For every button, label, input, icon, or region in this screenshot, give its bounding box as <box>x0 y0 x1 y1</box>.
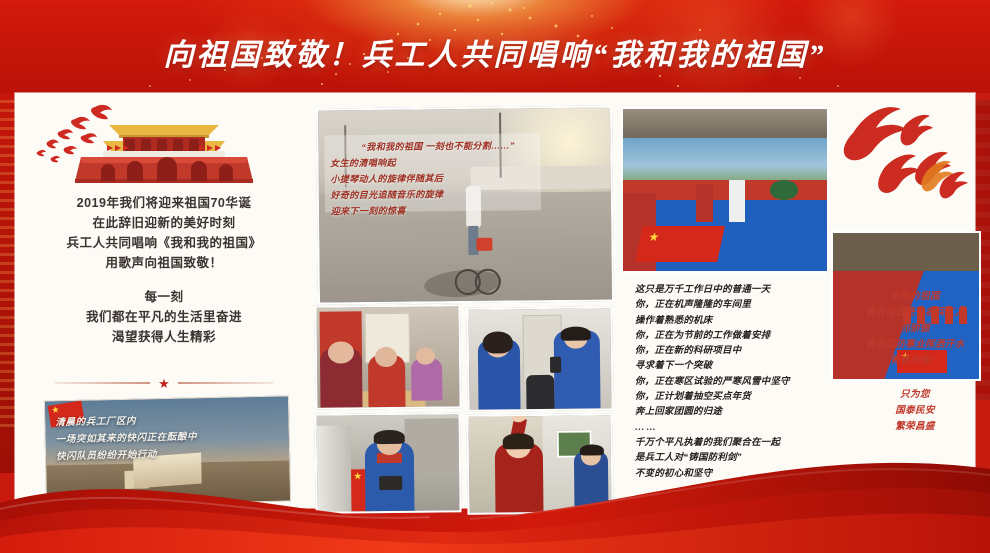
photo-two-workers-blue-uniform <box>466 306 613 412</box>
red-star-icon: ★ <box>158 377 170 390</box>
body-line: 你，正在机声隆隆的车间里 <box>635 298 853 313</box>
intro-line: 每一刻 <box>15 287 313 307</box>
text-gap <box>855 369 975 387</box>
flying-doves-icon <box>835 99 975 219</box>
body-line: 千万个平凡执着的我们聚合在一起 <box>635 436 853 451</box>
intro-line: 2019年我们将迎来祖国70华诞 <box>15 193 313 213</box>
tiananmen-gate-icon <box>23 101 305 187</box>
right-body-text: 这只是万千工作日中的普通一天 你，正在机声隆隆的车间里 操作着熟悉的机床 你，正… <box>635 283 853 482</box>
left-intro-text: 2019年我们将迎来祖国70华诞 在此辞旧迎新的美好时刻 兵工人共同唱响《我和我… <box>15 193 313 347</box>
photo-woman-cycling: “我和我的祖国 一刻也不能分割……” 女生的清唱响起 小提琴动人的旋律伴随其后 … <box>316 105 614 304</box>
person-hair <box>503 433 534 449</box>
divider-line-right <box>178 382 273 384</box>
intro-line: 用歌声向祖国致敬！ <box>15 253 313 273</box>
caption-line: 迎来下一刻的惊喜 <box>331 201 547 219</box>
red-line: 繁荣昌盛 <box>855 419 975 435</box>
photo-girl-waving <box>466 413 613 515</box>
person-hand <box>511 413 525 422</box>
photo-background-top <box>833 233 979 271</box>
person-figure <box>696 184 712 223</box>
intro-line: 我们都在平凡的生活里奋进 <box>15 307 313 327</box>
hero-photo-caption: “我和我的祖国 一刻也不能分割……” 女生的清唱响起 小提琴动人的旋律伴随其后 … <box>330 137 547 219</box>
person-hair <box>373 430 404 444</box>
photo-caption: 清晨的兵工厂区内 一场突如其来的快闪正在酝酿中 快闪队员纷纷开始行动 <box>55 411 276 467</box>
right-column: 这只是万千工作日中的普通一天 你，正在机声隆隆的车间里 操作着熟悉的机床 你，正… <box>619 93 975 508</box>
photo-factory-dawn: 清晨的兵工厂区内 一场突如其来的快闪正在酝酿中 快闪队员纷纷开始行动 <box>44 395 291 506</box>
red-line: 我为国防事业挥洒汗水 <box>855 337 975 353</box>
left-column: 2019年我们将迎来祖国70华诞 在此辞旧迎新的美好时刻 兵工人共同唱响《我和我… <box>15 93 313 508</box>
bike-basket <box>477 238 493 252</box>
body-line: 这只是万千工作日中的普通一天 <box>635 283 853 298</box>
notebook-icon <box>380 476 403 490</box>
poster-title: 向祖国致敬！兵工人共同唱响“我和我的祖国” <box>0 0 990 93</box>
body-line: 你，正在为节前的工作做着安排 <box>635 329 853 344</box>
photo-chair <box>526 375 555 409</box>
middle-photo-column: “我和我的祖国 一刻也不能分割……” 女生的清唱响起 小提琴动人的旋律伴随其后 … <box>315 93 617 508</box>
caption-line: “我和我的祖国 一刻也不能分割……” <box>330 137 546 155</box>
body-line: 寻求着下一个突破 <box>635 359 853 374</box>
person-head <box>416 348 435 365</box>
body-line: 你，正在新的科研项目中 <box>635 344 853 359</box>
red-line: 国泰民安 <box>855 403 975 419</box>
photo-roof <box>623 109 827 141</box>
red-line: 我为自己是一名兵工人 <box>855 305 975 321</box>
right-red-text: 亲爱的祖国 我为自己是一名兵工人 而骄傲 我为国防事业挥洒汗水 青春无悔！ 只为… <box>855 289 975 435</box>
red-line: 亲爱的祖国 <box>855 289 975 305</box>
red-line: 青春无悔！ <box>855 353 975 369</box>
red-line: 而骄傲 <box>855 321 975 337</box>
person-hair <box>561 326 591 340</box>
person-head <box>375 347 397 367</box>
person-figure <box>729 180 745 222</box>
body-line: 你，正计划着抽空买点年货 <box>635 390 853 405</box>
person-hair <box>580 444 604 456</box>
text-gap <box>15 273 313 287</box>
intro-line: 兵工人共同唱响《我和我的祖国》 <box>15 233 313 253</box>
divider-line-left <box>55 382 150 384</box>
red-line: 只为您 <box>855 387 975 403</box>
body-line: 操作着熟悉的机床 <box>635 314 853 329</box>
photo-elderly-singers <box>314 304 461 410</box>
flying-doves-icon <box>37 105 112 162</box>
body-line: 奔上回家团圆的归途 <box>635 405 853 420</box>
body-line: 是兵工人对“铸国防利剑” <box>635 451 853 466</box>
body-line: 你，正在寒区试验的严寒风雪中坚守 <box>635 375 853 390</box>
body-line-ellipsis: …… <box>635 421 853 436</box>
photo-plant <box>770 180 799 199</box>
intro-line: 在此辞旧迎新的美好时刻 <box>15 213 313 233</box>
poster-stage: 向祖国致敬！兵工人共同唱响“我和我的祖国” <box>0 0 990 553</box>
header-banner: 向祖国致敬！兵工人共同唱响“我和我的祖国” <box>0 0 990 93</box>
photo-mural <box>623 138 827 183</box>
person-head <box>328 341 354 363</box>
person-figure <box>411 358 443 400</box>
photo-worker-with-flag <box>314 412 461 514</box>
phone-icon <box>550 357 562 373</box>
photo-gymnasium-flashmob <box>621 107 829 273</box>
person-hair <box>483 331 513 353</box>
content-card: 2019年我们将迎来祖国70华诞 在此辞旧迎新的美好时刻 兵工人共同唱响《我和我… <box>15 93 975 508</box>
left-edge-decor <box>0 100 16 430</box>
china-flag-icon <box>636 226 725 262</box>
body-line: 不变的初心和坚守 <box>635 467 853 482</box>
intro-line: 渴望获得人生精彩 <box>15 327 313 347</box>
section-divider: ★ <box>41 376 287 390</box>
photo-machine-rack <box>317 425 352 512</box>
